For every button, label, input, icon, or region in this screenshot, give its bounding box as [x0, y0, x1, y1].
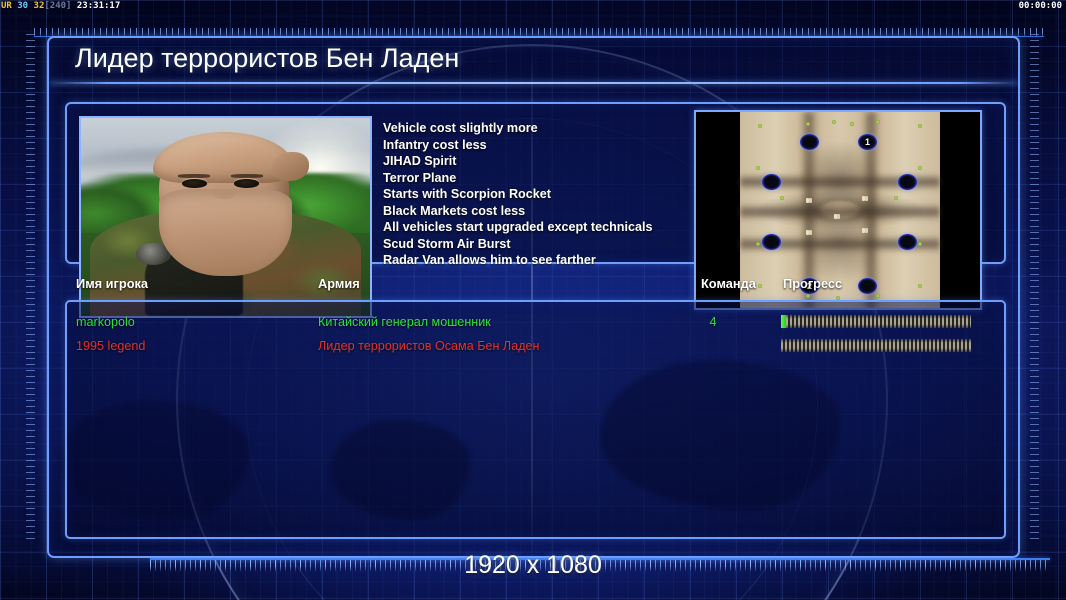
map-resource	[918, 166, 922, 170]
status-bar: UR 30 32[240] 23:31:17 00:00:00	[0, 0, 1066, 13]
general-info-panel: Vehicle cost slightly more Infantry cost…	[65, 102, 1006, 264]
feature-item: JIHAD Spirit	[383, 153, 713, 170]
status-value-1: 30	[17, 1, 28, 11]
status-value-3: [240]	[44, 1, 71, 11]
map-resource	[876, 120, 880, 124]
map-resource	[756, 166, 760, 170]
map-structure	[806, 198, 809, 203]
feature-item: Starts with Scorpion Rocket	[383, 186, 713, 203]
column-header-name: Имя игрока	[76, 276, 148, 291]
main-window: Лидер террористов Бен Ладен	[47, 36, 1020, 558]
feature-item: Vehicle cost slightly more	[383, 120, 713, 137]
frame-ruler-left	[26, 34, 35, 542]
map-terrain-band	[740, 204, 940, 220]
map-resource	[918, 242, 922, 246]
map-structure	[862, 196, 865, 201]
feature-item: Scud Storm Air Burst	[383, 236, 713, 253]
feature-item: Infantry cost less	[383, 137, 713, 154]
player-army: Лидер террористов Осама Бен Ладен	[318, 334, 540, 358]
player-progress-track	[781, 339, 971, 352]
feature-item: Radar Van allows him to see farther	[383, 252, 713, 269]
portrait-eyebrow-right	[231, 174, 263, 177]
portrait-eyebrow-left	[178, 174, 210, 177]
map-resource	[894, 196, 898, 200]
column-header-team: Команда	[701, 276, 756, 291]
general-features-list: Vehicle cost slightly more Infantry cost…	[383, 120, 713, 269]
portrait-eye-left	[182, 179, 207, 187]
map-structure	[834, 214, 837, 219]
status-value-2: 32	[34, 1, 45, 11]
map-resource	[758, 124, 762, 128]
portrait-eye-right	[234, 179, 259, 187]
resolution-label: 1920 x 1080	[0, 551, 1066, 580]
title-bar: Лидер террористов Бен Ладен	[49, 38, 1018, 83]
frame-ruler-right	[1030, 34, 1039, 542]
feature-item: Black Markets cost less	[383, 203, 713, 220]
map-resource	[780, 196, 784, 200]
page-title: Лидер террористов Бен Ладен	[75, 43, 459, 74]
map-start-position	[762, 174, 781, 190]
map-structure	[862, 228, 865, 233]
map-resource	[756, 242, 760, 246]
player-progress-bar	[781, 339, 971, 352]
screen-root: UR 30 32[240] 23:31:17 00:00:00 Лидер те…	[0, 0, 1066, 600]
feature-item: All vehicles start upgraded except techn…	[383, 219, 713, 236]
player-army: Китайский генерал мошенник	[318, 310, 491, 334]
player-progress-track	[786, 315, 971, 328]
map-resource	[806, 122, 810, 126]
map-start-position	[800, 134, 819, 150]
player-name: 1995 legend	[76, 334, 145, 358]
map-resource	[832, 120, 836, 124]
map-structure	[806, 230, 809, 235]
feature-item: Terror Plane	[383, 170, 713, 187]
player-progress-bar	[781, 315, 971, 328]
player-name: markopolo	[76, 310, 135, 334]
map-start-position	[762, 234, 781, 250]
map-resource	[850, 122, 854, 126]
status-bar-left: UR 30 32[240] 23:31:17	[1, 0, 120, 13]
portrait-nose-bridge	[212, 185, 235, 199]
title-separator	[49, 82, 1018, 84]
status-clock: 23:31:17	[77, 1, 120, 11]
column-header-progress: Прогресс	[783, 276, 842, 291]
map-resource	[918, 124, 922, 128]
column-header-army: Армия	[318, 276, 360, 291]
status-prefix: UR	[1, 1, 12, 11]
table-row[interactable]: 1995 legend Лидер террористов Осама Бен …	[67, 334, 1004, 358]
player-team: 4	[695, 310, 731, 334]
map-start-position	[898, 174, 917, 190]
map-start-position	[898, 234, 917, 250]
status-bar-timer: 00:00:00	[1019, 0, 1062, 13]
players-table-body: markopolo Китайский генерал мошенник 4 1…	[65, 300, 1006, 539]
players-table-header: Имя игрока Армия Команда Прогресс	[65, 276, 1006, 298]
table-row[interactable]: markopolo Китайский генерал мошенник 4	[67, 310, 1004, 334]
map-start-position: 1	[858, 134, 877, 150]
